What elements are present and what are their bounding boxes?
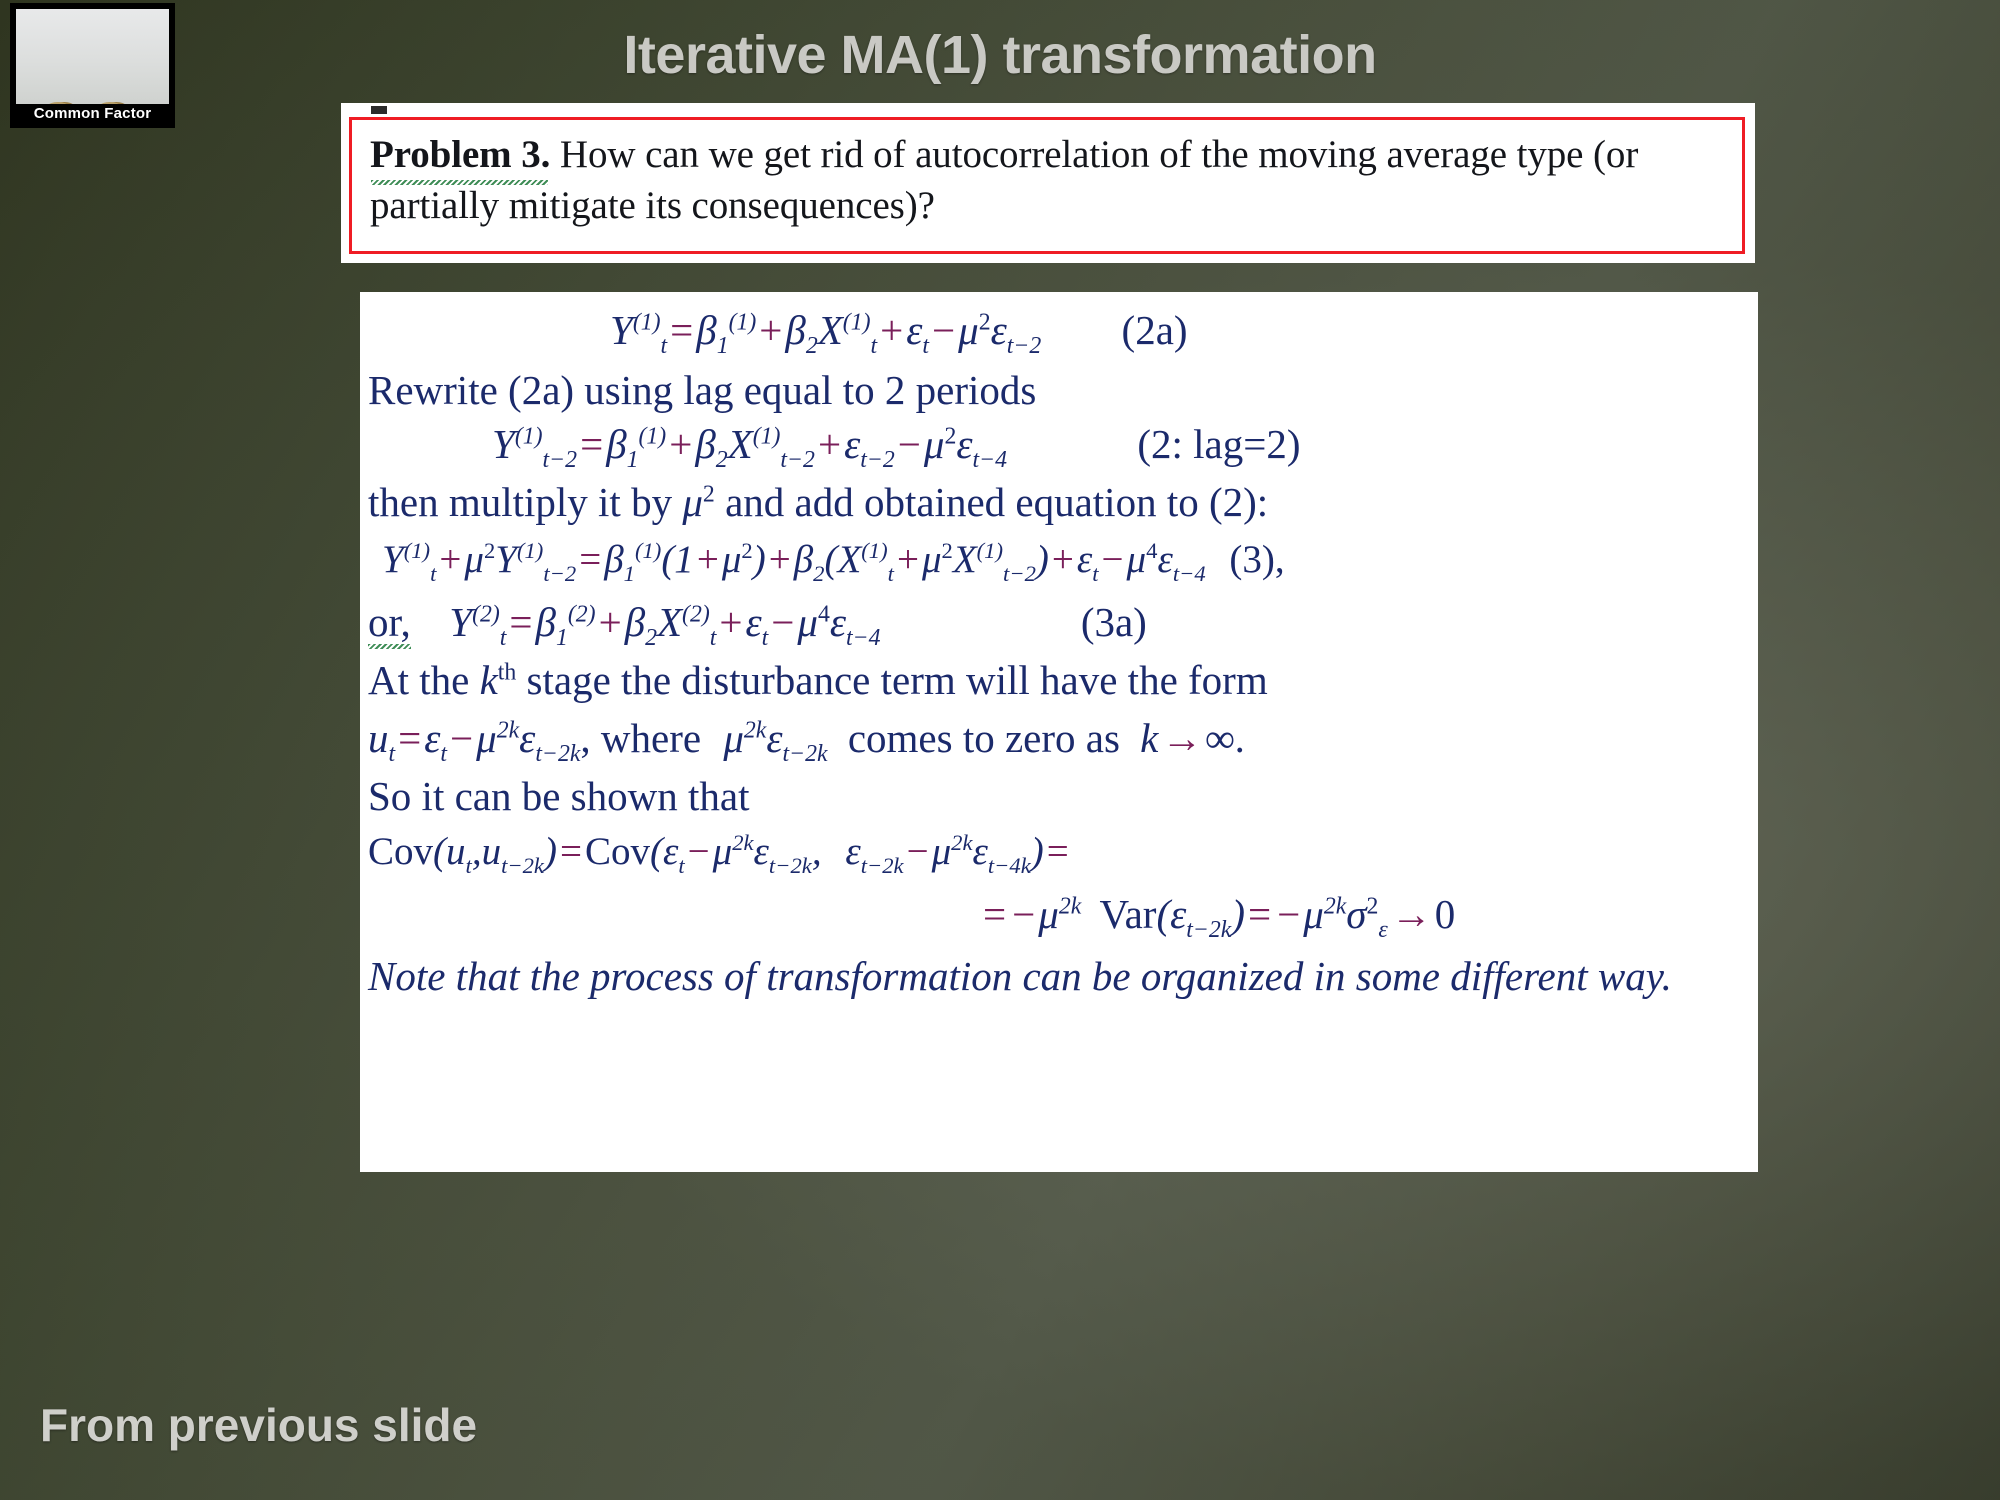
equation-card: Y(1)t=β1(1)+β2X(1)t+εt−μ2εt−2 (2a) Rewri… [360,292,1758,1172]
text-kth-k: k [480,657,498,703]
equation-var: =−μ2k Var(εt−2k)=−μ2kσ2ε→0 [980,894,1455,936]
note-text: Note that the process of transformation … [368,952,1748,1000]
slide-canvas: Common Factor Iterative MA(1) transforma… [0,0,2000,1500]
problem-body: How can we get rid of autocorrelation of… [370,133,1638,227]
equation-number-lag2: (2: lag=2) [1137,421,1300,467]
arrow-zero: 0 [1435,891,1456,937]
text-multiply-post: and add obtained equation to (2): [715,479,1268,525]
text-shown: So it can be shown that [368,776,749,818]
equation-number-3: (3), [1229,538,1284,581]
text-kth-post: stage the disturbance term will have the… [516,657,1267,703]
cov-label-2: Cov [585,830,650,873]
page-title: Iterative MA(1) transformation [300,24,1700,86]
twins-photo-icon [16,9,169,104]
equation-cov: Cov(ut,ut−2k)=Cov(εt−μ2kεt−2k, εt−2k−μ2k… [368,832,1072,872]
problem-card: Problem 3. How can we get rid of autocor… [341,103,1755,263]
problem-label: Problem 3. [370,130,550,181]
footer-label: From previous slide [40,1398,477,1452]
equation-number-2a: (2a) [1122,307,1188,353]
text-multiply: then multiply it by μ2 and add obtained … [368,482,1268,524]
text-rewrite: Rewrite (2a) using lag equal to 2 period… [368,370,1036,412]
equation-lag2: Y(1)t−2=β1(1)+β2X(1)t−2+εt−2−μ2εt−4 (2: … [492,424,1300,466]
text-where: , where [580,715,701,761]
crop-mark [371,106,387,114]
problem-box-border: Problem 3. How can we get rid of autocor… [349,117,1745,254]
text-or: or, [368,602,411,644]
text-kth-sup: th [498,659,517,685]
thumbnail-common-factor[interactable]: Common Factor [10,3,175,128]
problem-text: Problem 3. How can we get rid of autocor… [370,130,1726,231]
text-comes: comes to zero as [848,715,1120,761]
equation-2a: Y(1)t=β1(1)+β2X(1)t+εt−μ2εt−2 (2a) [610,310,1188,352]
var-label: Var [1100,891,1157,937]
equation-3a: or, Y(2)t=β1(2)+β2X(2)t+εt−μ4εt−4 (3a) [368,602,1147,644]
text-multiply-pre: then multiply it by [368,479,682,525]
equation-ut: ut=εt−μ2kεt−2k, where μ2kεt−2k comes to … [368,718,1245,760]
text-kth-stage: At the kth stage the disturbance term wi… [368,660,1268,702]
thumbnail-caption: Common Factor [10,105,175,122]
equation-3: Y(1)t+μ2Y(1)t−2=β1(1)(1+μ2)+β2(X(1)t+μ2X… [382,540,1285,580]
cov-label-1: Cov [368,830,433,873]
equation-number-3a: (3a) [1081,599,1147,645]
text-kth-pre: At the [368,657,480,703]
